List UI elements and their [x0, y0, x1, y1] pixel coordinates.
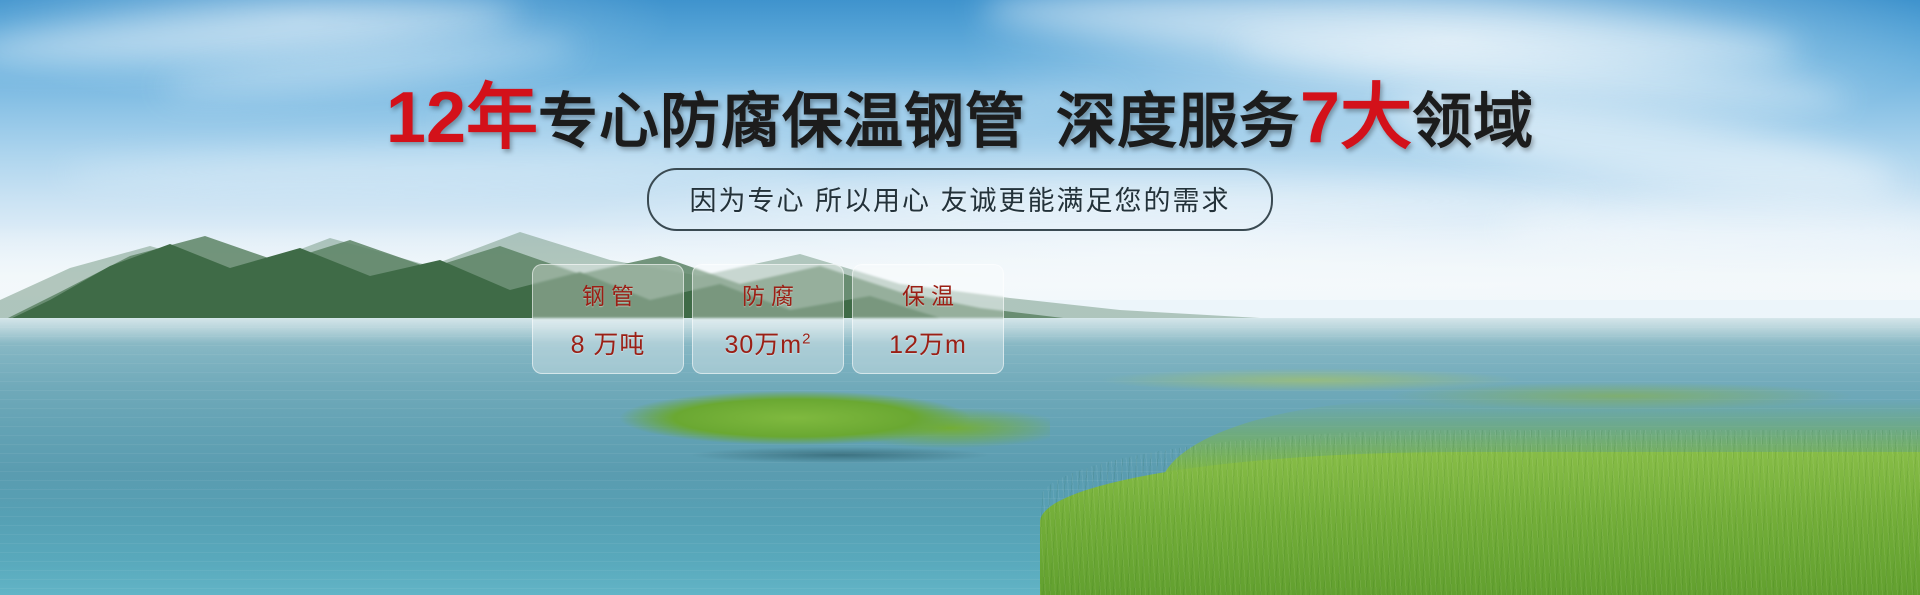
headline-years-unit: 年 — [466, 78, 538, 158]
subtitle-pill: 因为专心 所以用心 友诚更能满足您的需求 — [647, 168, 1272, 231]
stat-card-value-text: 12万m — [889, 331, 967, 359]
headline-main-text: 专心防腐保温钢管 — [538, 88, 1026, 155]
stat-card-value: 30万m2 — [725, 325, 812, 361]
headline-seven-unit: 大 — [1340, 78, 1412, 158]
stat-card-value-text: 8 万吨 — [571, 331, 646, 359]
stat-card-value-superscript: 2 — [802, 331, 811, 348]
stat-card-value: 12万m — [889, 325, 967, 361]
stat-card-label: 钢管 — [576, 277, 640, 311]
headline-seven-number: 7 — [1300, 78, 1340, 158]
headline-service-text: 深度服务 — [1056, 88, 1300, 155]
headline: 12年专心防腐保温钢管深度服务7大领域 — [0, 82, 1920, 154]
stat-card-group: 钢管 8 万吨 防腐 30万m2 保温 12万m — [532, 264, 1004, 374]
stat-card-anticorrosion: 防腐 30万m2 — [692, 264, 844, 374]
stat-card-label: 防腐 — [736, 277, 800, 311]
headline-years-number: 12 — [386, 78, 466, 158]
stat-card-label: 保温 — [896, 277, 960, 311]
stat-card-value: 8 万吨 — [571, 325, 646, 361]
stat-card-value-text: 30万m — [725, 331, 803, 359]
banner-content: 12年专心防腐保温钢管深度服务7大领域 因为专心 所以用心 友诚更能满足您的需求… — [0, 0, 1920, 595]
stat-card-insulation: 保温 12万m — [852, 264, 1004, 374]
promo-banner: 12年专心防腐保温钢管深度服务7大领域 因为专心 所以用心 友诚更能满足您的需求… — [0, 0, 1920, 595]
stat-card-steel-pipe: 钢管 8 万吨 — [532, 264, 684, 374]
subtitle-container: 因为专心 所以用心 友诚更能满足您的需求 — [0, 168, 1920, 231]
headline-fields-text: 领域 — [1412, 88, 1534, 155]
